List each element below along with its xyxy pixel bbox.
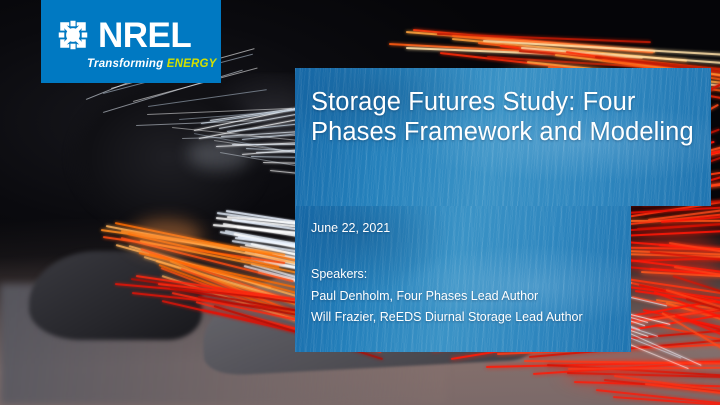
logo-lockup: NREL (55, 17, 191, 53)
nrel-tagline: Transforming ENERGY (87, 58, 217, 70)
background-glow (562, 356, 692, 388)
background-glow (634, 227, 720, 292)
page-title: Storage Futures Study: Four Phases Frame… (311, 87, 697, 148)
nrel-logo: NREL Transforming ENERGY (41, 0, 221, 83)
presentation-date: June 22, 2021 (311, 221, 390, 235)
speaker-entry: Will Frazier, ReEDS Diurnal Storage Lead… (311, 307, 623, 329)
background-glow (130, 219, 202, 255)
details-panel: June 22, 2021 Speakers: Paul Denholm, Fo… (295, 206, 631, 352)
title-panel: Storage Futures Study: Four Phases Frame… (295, 68, 711, 206)
tagline-energy: ENERGY (167, 58, 217, 70)
title-slide: Storage Futures Study: Four Phases Frame… (0, 0, 720, 405)
nrel-circular-mark-icon (55, 17, 91, 53)
speakers-label: Speakers: (311, 264, 623, 286)
speaker-entry: Paul Denholm, Four Phases Lead Author (311, 286, 623, 308)
tagline-transforming: Transforming (87, 58, 163, 70)
nrel-wordmark: NREL (98, 18, 191, 53)
speakers-block: Speakers: Paul Denholm, Four Phases Lead… (311, 264, 623, 329)
background-glow (187, 138, 252, 170)
